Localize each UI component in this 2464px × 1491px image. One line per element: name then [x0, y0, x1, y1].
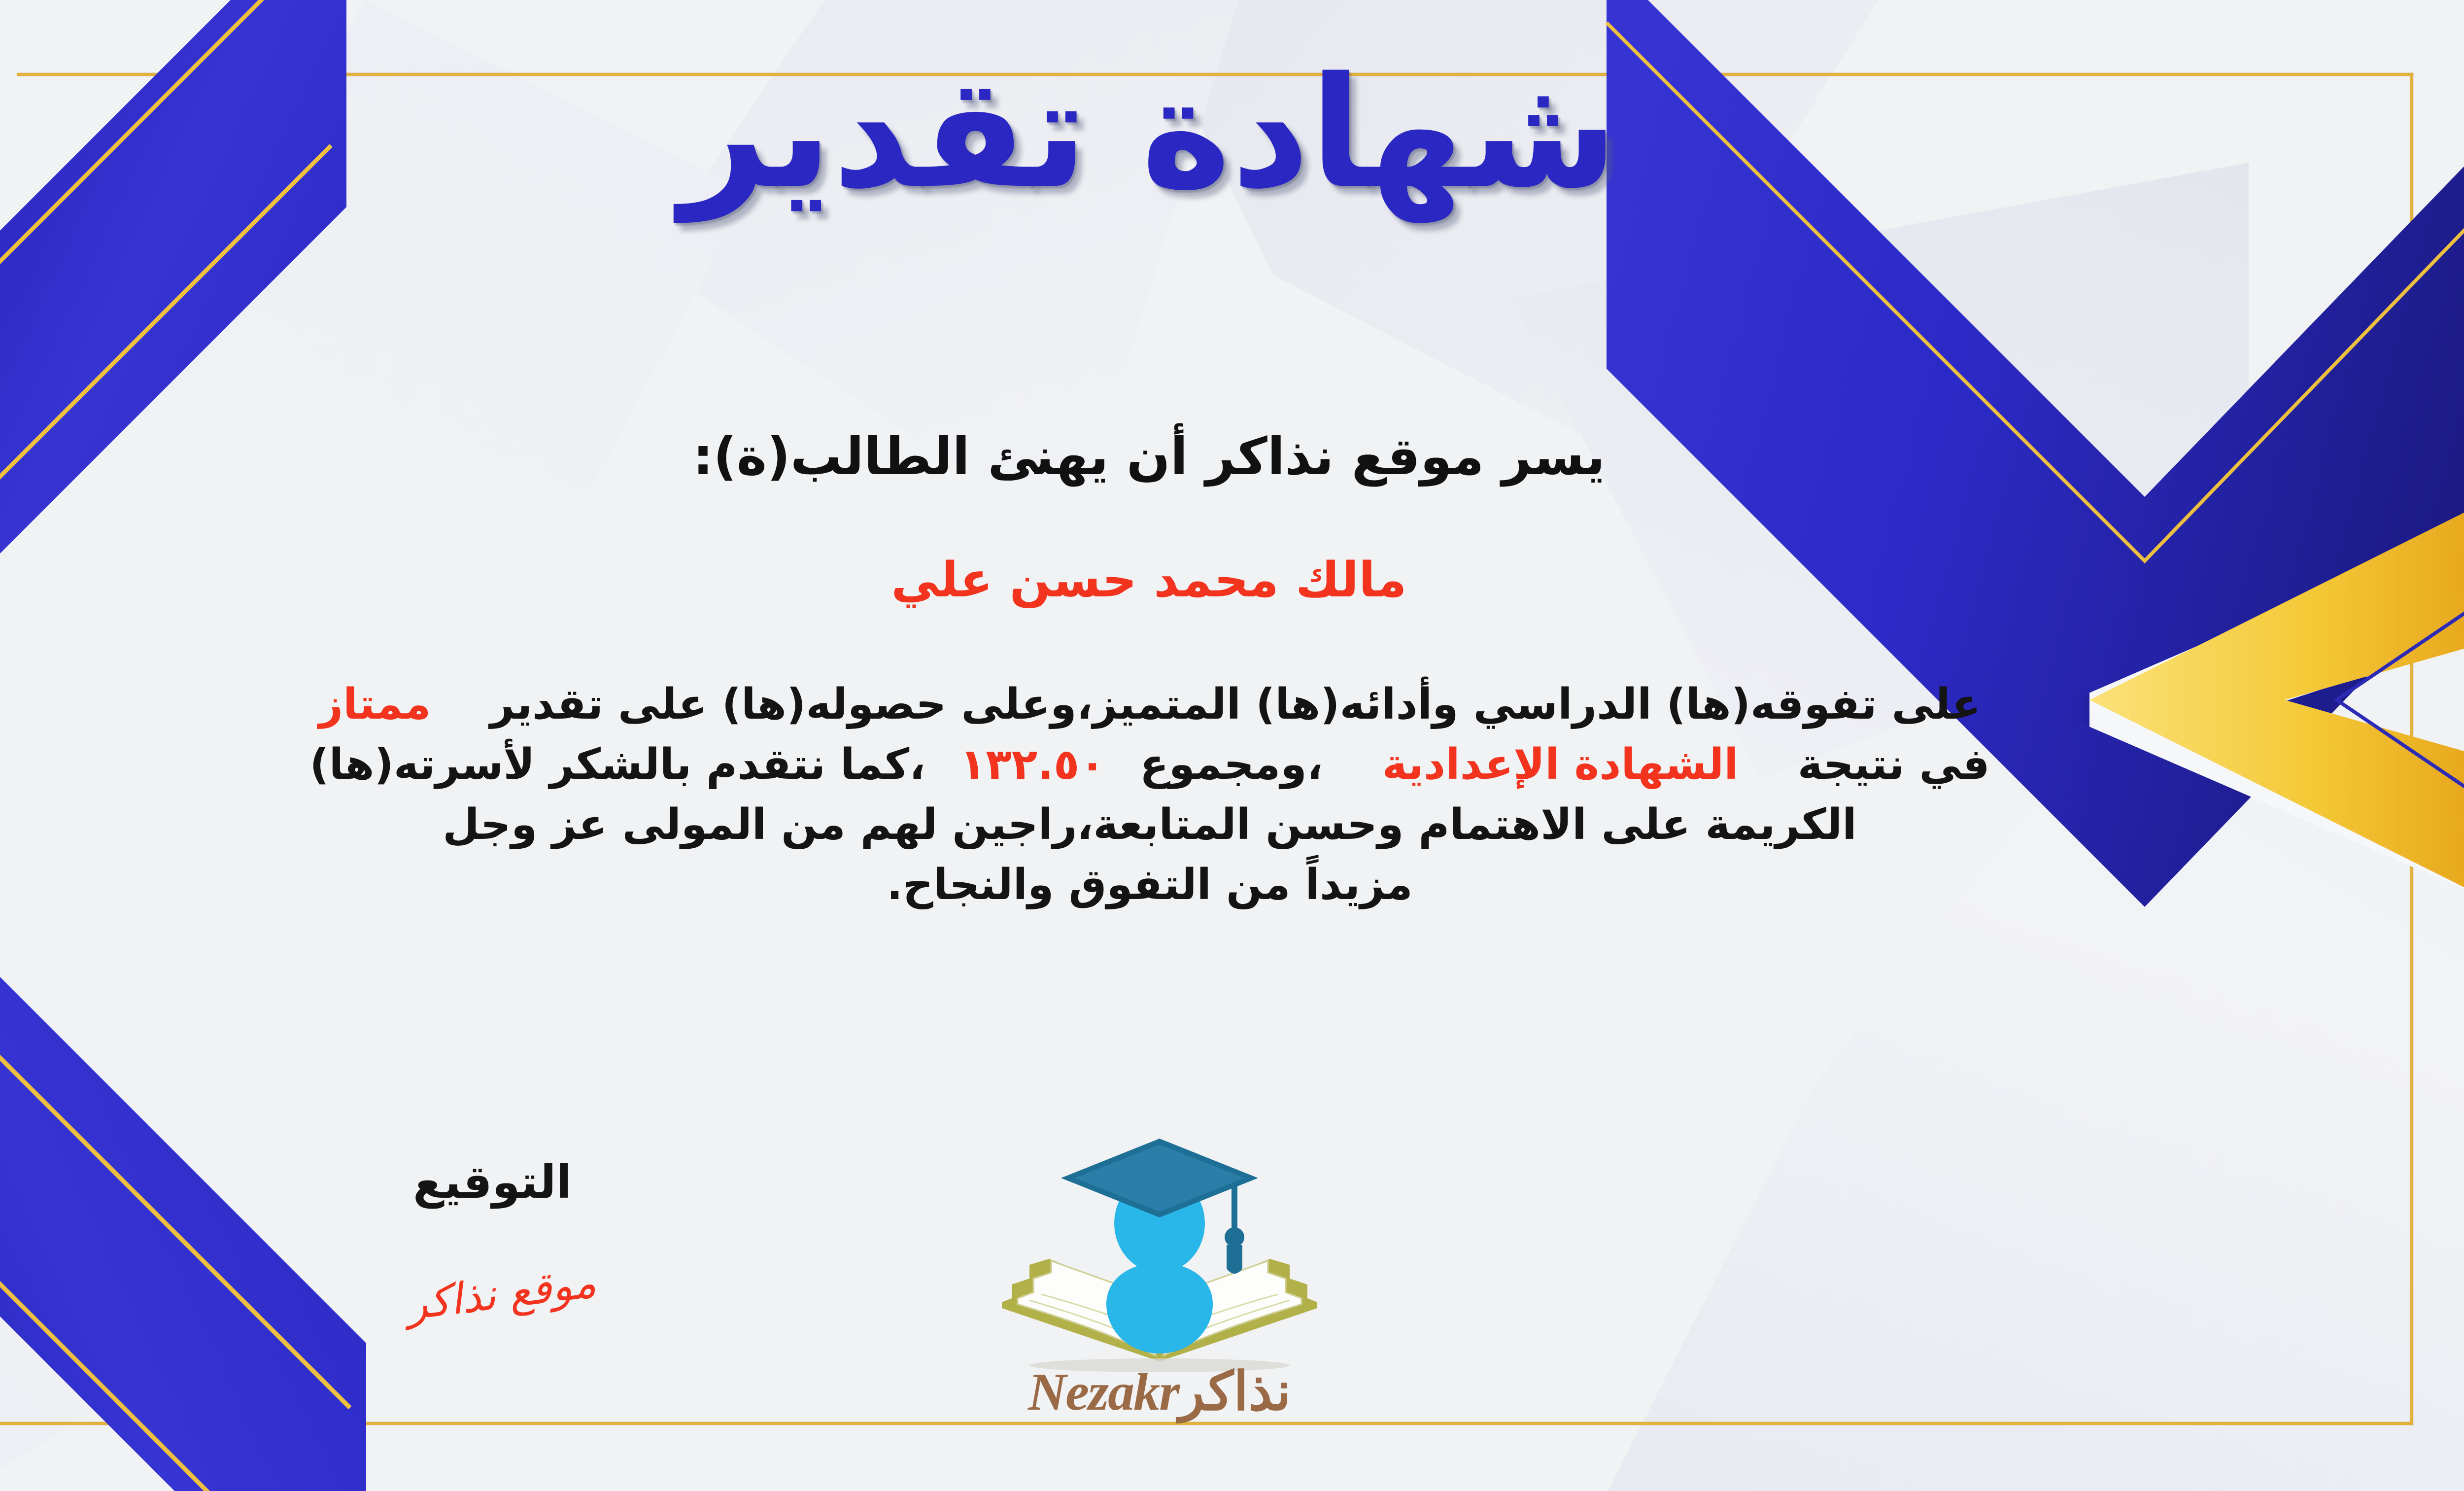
certificate-content: شهادة تقدير يسر موقع نذاكر أن يهنئ الطال…	[0, 0, 2464, 1491]
body-line-4: مزيداً من التفوق والنجاح.	[0, 855, 2337, 915]
certificate-body: على تفوقه(ها) الدراسي وأدائه(ها) المتميز…	[0, 674, 2337, 915]
body-line-2-suffix: ،كما نتقدم بالشكر لأسرته(ها)	[309, 740, 925, 789]
body-line-1: على تفوقه(ها) الدراسي وأدائه(ها) المتميز…	[0, 674, 2337, 734]
body-line-2-middle: ،ومجموع	[1140, 740, 1323, 789]
brand-name-arabic: نذاكر	[1179, 1360, 1291, 1422]
signature-mark: موقع نذاكر	[404, 1258, 598, 1330]
student-name: مالك محمد حسن علي	[0, 552, 2464, 608]
body-line-1-text: على تفوقه(ها) الدراسي وأدائه(ها) المتميز…	[490, 680, 1981, 729]
body-line-2: في نتيجةالشهادة الإعدادية،ومجموع١٣٢.٥٠،ك…	[0, 734, 2337, 795]
brand-name: نذاكرNezakr	[972, 1360, 1347, 1423]
page-title: شهادة تقدير	[0, 53, 2464, 214]
total-score: ١٣٢.٥٠	[960, 740, 1105, 789]
intro-line: يسر موقع نذاكر أن يهنئ الطالب(ة):	[0, 426, 2464, 486]
signature-label: التوقيع	[413, 1156, 572, 1209]
exam-name: الشهادة الإعدادية	[1382, 740, 1739, 789]
grade-value: ممتاز	[319, 680, 431, 729]
body-line-2-prefix: في نتيجة	[1798, 740, 1990, 789]
brand-logo: نذاكرNezakr	[972, 1129, 1347, 1434]
brand-name-latin: Nezakr	[1028, 1363, 1179, 1422]
body-line-3: الكريمة على الاهتمام وحسن المتابعة،راجين…	[0, 795, 2337, 855]
certificate-page: شهادة تقدير يسر موقع نذاكر أن يهنئ الطال…	[0, 0, 2464, 1491]
